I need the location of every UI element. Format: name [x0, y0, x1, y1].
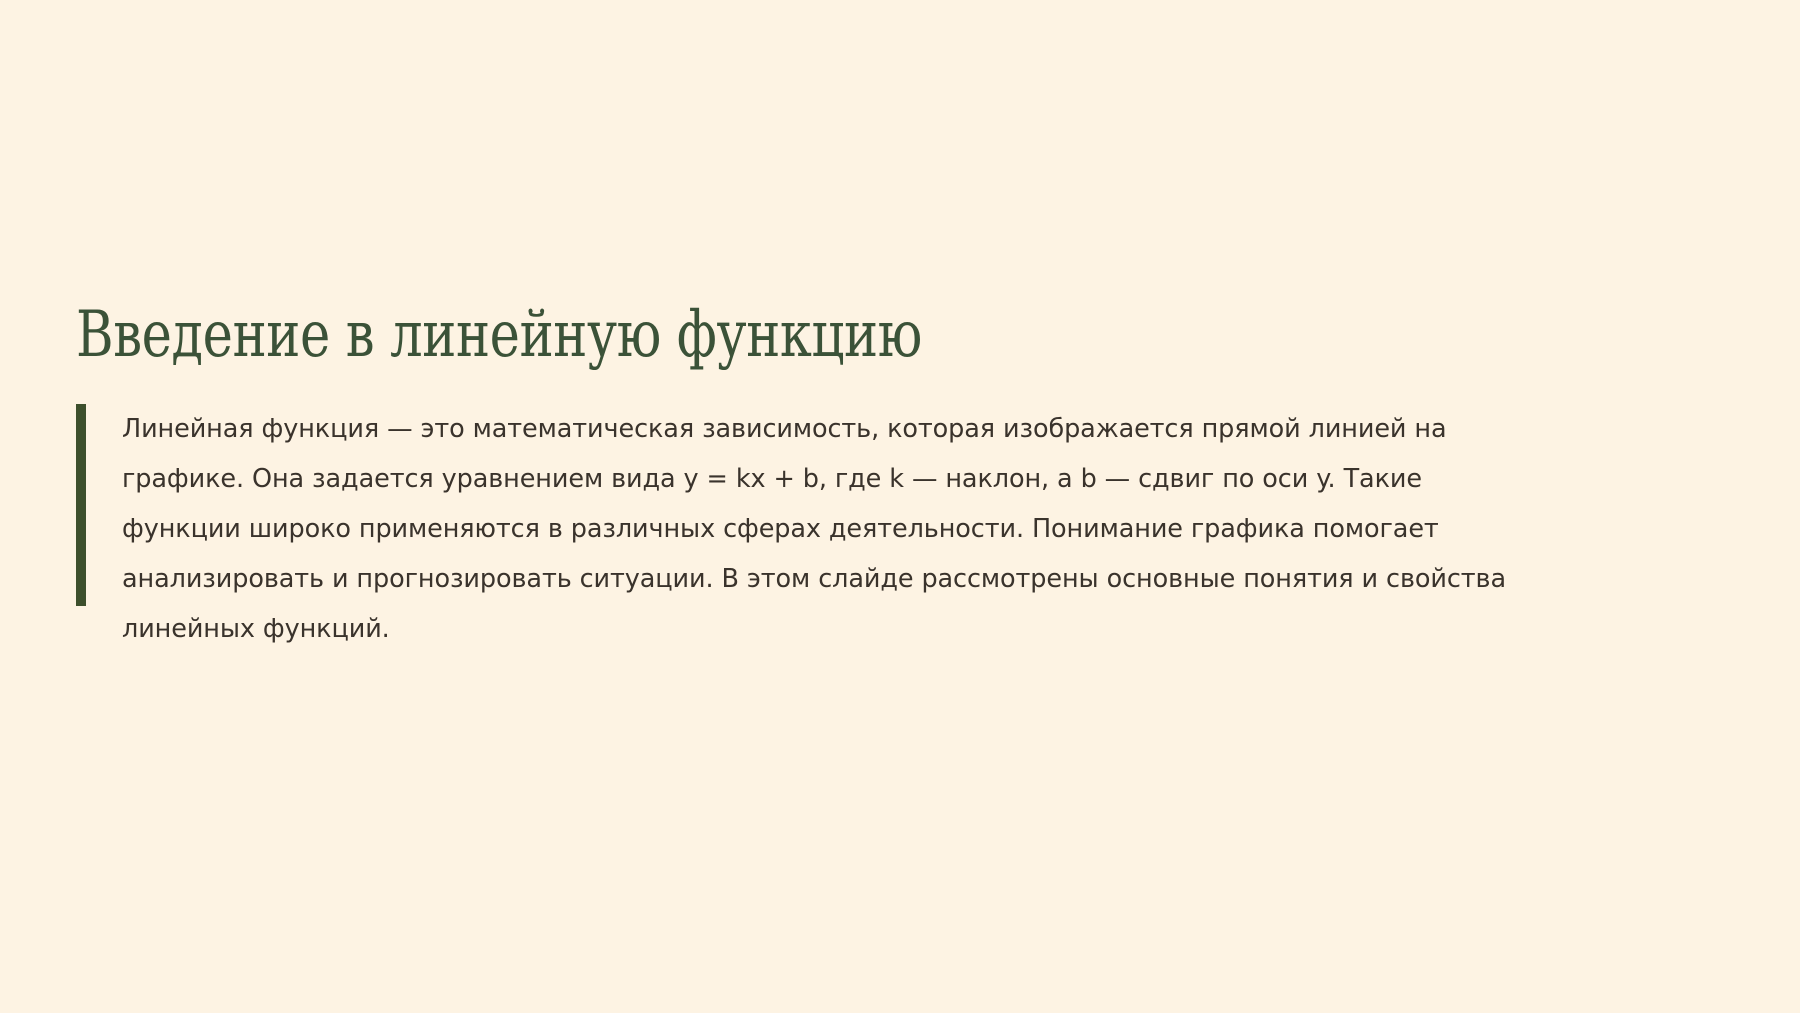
slide-canvas: Введение в линейную функцию Линейная фун…: [0, 0, 1800, 1013]
body-block: Линейная функция — это математическая за…: [76, 404, 1736, 654]
body-paragraph: Линейная функция — это математическая за…: [122, 404, 1547, 654]
accent-bar: [76, 404, 86, 606]
page-title: Введение в линейную функцию: [76, 300, 1404, 372]
slide-content: Введение в линейную функцию Линейная фун…: [76, 300, 1736, 654]
